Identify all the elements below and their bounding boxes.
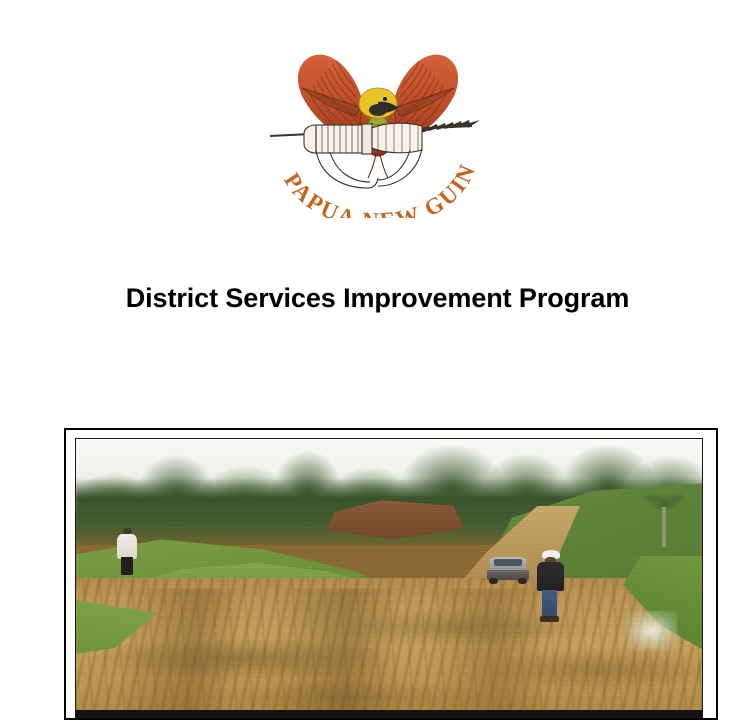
bird-tail-wires — [368, 154, 388, 178]
bird-eye — [383, 97, 387, 101]
photo-frame — [64, 428, 718, 720]
photo-road-ruts — [126, 589, 652, 711]
page-title: District Services Improvement Program — [0, 283, 755, 314]
photo-bottom-band — [76, 710, 702, 717]
photo-person-hard-hat — [536, 550, 565, 622]
photo-vehicle — [486, 557, 530, 583]
district-road-construction-photo — [76, 439, 702, 717]
photo-water-puddle — [627, 611, 677, 650]
kundu-drum — [304, 123, 422, 154]
photo-palm-tree — [643, 486, 687, 547]
photo-inner-border — [75, 438, 703, 718]
national-emblem: PAPUA NEW GUINEA — [0, 38, 755, 223]
papua-new-guinea-emblem-icon: PAPUA NEW GUINEA — [258, 38, 498, 218]
bird-throat — [369, 104, 387, 116]
photo-person-white-coat — [115, 528, 140, 575]
